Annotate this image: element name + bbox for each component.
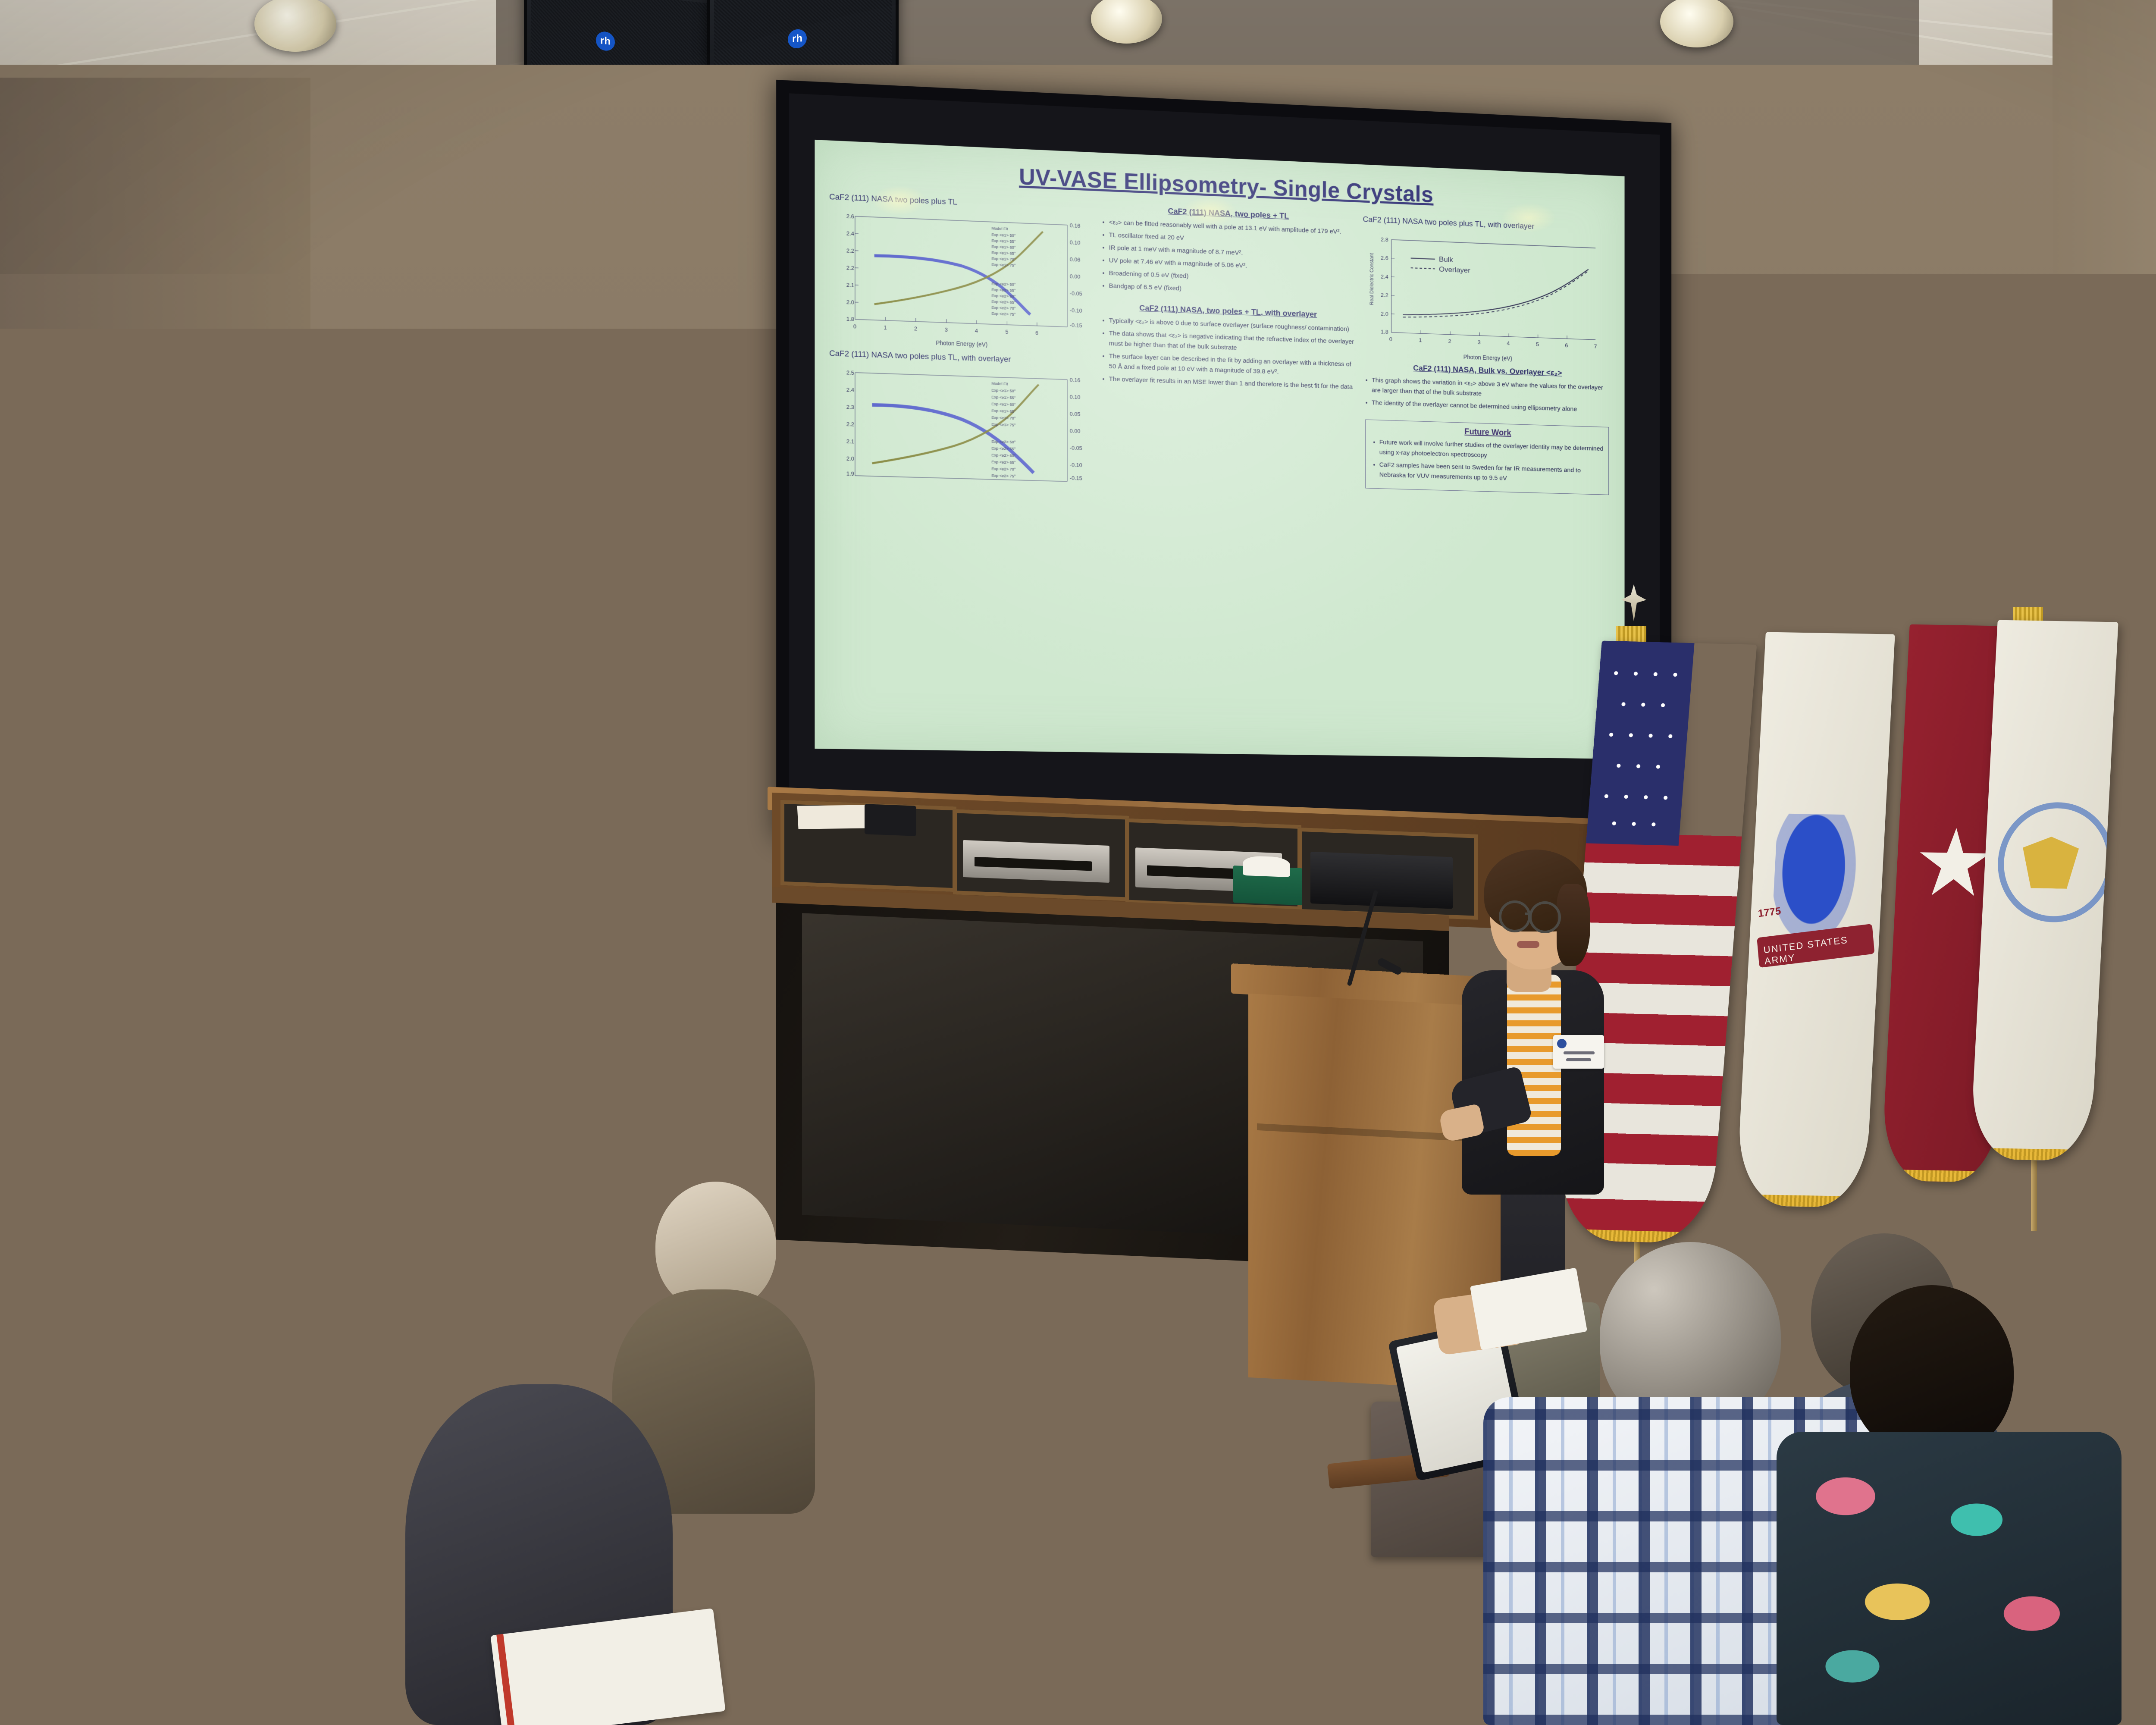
floor-cable-cover xyxy=(991,1328,1109,1358)
svg-text:Exp <e1> 50°: Exp <e1> 50° xyxy=(991,232,1016,238)
svg-text:Exp <e2> 50°: Exp <e2> 50° xyxy=(991,439,1016,445)
svg-text:2.2: 2.2 xyxy=(1381,292,1388,298)
flag-star xyxy=(1916,828,1993,900)
chart-right: 2.82.6 2.42.2 2.01.8 012 345 67 Real Die… xyxy=(1363,228,1611,358)
svg-text:Exp <e1> 75°: Exp <e1> 75° xyxy=(991,262,1016,268)
svg-text:2.0: 2.0 xyxy=(1381,310,1388,317)
wall-camera xyxy=(496,332,561,384)
svg-text:Exp <e2> 60°: Exp <e2> 60° xyxy=(991,293,1016,299)
svg-text:2.8: 2.8 xyxy=(1381,236,1388,243)
svg-text:Overlayer: Overlayer xyxy=(1439,265,1470,274)
svg-text:0.16: 0.16 xyxy=(1070,222,1081,229)
svg-text:2.3: 2.3 xyxy=(846,404,854,410)
slide-center-column: CaF2 (111) NASA, two poles + TL <ε₂> can… xyxy=(1100,201,1356,505)
av-operator-face xyxy=(524,850,563,901)
svg-text:0: 0 xyxy=(853,323,856,329)
svg-text:2.6: 2.6 xyxy=(1381,255,1388,261)
svg-text:1: 1 xyxy=(1419,337,1422,343)
easel-pad xyxy=(0,740,179,1042)
svg-text:0: 0 xyxy=(1389,336,1392,342)
projector-hotspot xyxy=(1181,196,1238,226)
wall-plate-insert xyxy=(1733,310,1763,348)
svg-text:Exp <e2> 65°: Exp <e2> 65° xyxy=(991,299,1016,305)
svg-text:2.0: 2.0 xyxy=(846,455,854,461)
svg-text:Exp <e1> 50°: Exp <e1> 50° xyxy=(991,388,1016,394)
flag-canton xyxy=(1586,641,1695,846)
svg-text:Exp <e1> 75°: Exp <e1> 75° xyxy=(991,422,1016,428)
sneaker-swoosh xyxy=(819,1604,907,1655)
flag-fringe xyxy=(1880,1170,1997,1183)
flag-fringe xyxy=(1736,1194,1865,1207)
svg-text:-0.10: -0.10 xyxy=(1070,307,1082,314)
svg-text:Real Dielectric Constant: Real Dielectric Constant xyxy=(1369,253,1374,305)
slide-right-column: CaF2 (111) NASA two poles plus TL, with … xyxy=(1363,212,1611,512)
svg-text:1: 1 xyxy=(884,324,887,331)
svg-text:Exp <e2> 60°: Exp <e2> 60° xyxy=(991,453,1016,458)
marker-blue[interactable] xyxy=(47,1040,78,1049)
svg-text:2.4: 2.4 xyxy=(846,230,854,237)
svg-text:3: 3 xyxy=(945,326,948,333)
presenter-mouth xyxy=(1517,941,1539,948)
svg-text:4: 4 xyxy=(1507,340,1510,346)
push-bar[interactable] xyxy=(2134,940,2156,950)
svg-text:Exp <e1> 70°: Exp <e1> 70° xyxy=(991,256,1016,262)
desk-speaker-left xyxy=(365,860,432,994)
svg-text:Exp <e2> 70°: Exp <e2> 70° xyxy=(991,466,1016,471)
svg-text:Exp <e2> 70°: Exp <e2> 70° xyxy=(991,305,1016,311)
svg-text:2.2: 2.2 xyxy=(846,264,854,271)
svg-text:2.4: 2.4 xyxy=(1381,273,1388,280)
flag-stars xyxy=(1592,646,1689,841)
av-player[interactable] xyxy=(963,840,1109,883)
svg-text:Exp <e2> 75°: Exp <e2> 75° xyxy=(991,311,1016,317)
center-bullets-top: <ε₂> can be fitted reasonably well with … xyxy=(1100,217,1356,300)
svg-text:Model Fit: Model Fit xyxy=(991,381,1008,386)
future-work-box: Future Work Future work will involve fur… xyxy=(1365,419,1609,495)
svg-text:4: 4 xyxy=(975,327,978,334)
audience-head xyxy=(457,1242,599,1402)
left-wall-panel xyxy=(0,78,310,1242)
svg-text:0.10: 0.10 xyxy=(1070,239,1081,246)
marker-red[interactable] xyxy=(9,1040,39,1049)
svg-text:Bulk: Bulk xyxy=(1439,255,1453,264)
svg-text:7: 7 xyxy=(1594,343,1597,349)
marker-yellow[interactable] xyxy=(86,1040,116,1049)
slide-content: UV-VASE Ellipsometry- Single Crystals Ca… xyxy=(815,140,1624,759)
chart-left-top: 2.62.4 2.22.2 2.12.0 1.8 012 345 6 0.160… xyxy=(829,206,1092,344)
chart-left-bottom: 2.52.4 2.32.2 2.12.0 1.9 0.160.10 0.050.… xyxy=(829,362,1092,498)
svg-text:-0.05: -0.05 xyxy=(1070,290,1082,297)
tissue xyxy=(1243,856,1290,877)
svg-text:0.00: 0.00 xyxy=(1070,273,1081,280)
center-bullets-bottom: Typically <ε₂> is above 0 due to surface… xyxy=(1100,315,1356,392)
bullet: CaF2 samples have been sent to Sweden fo… xyxy=(1379,460,1604,486)
future-work-bullets: Future work will involve further studies… xyxy=(1370,437,1604,486)
svg-text:0.05: 0.05 xyxy=(1070,411,1081,417)
svg-text:Exp <e1> 65°: Exp <e1> 65° xyxy=(991,408,1016,414)
svg-text:-0.10: -0.10 xyxy=(1070,461,1082,468)
svg-text:6: 6 xyxy=(1035,329,1038,336)
svg-text:0.00: 0.00 xyxy=(1070,427,1081,434)
svg-text:2: 2 xyxy=(1448,338,1451,344)
svg-text:2.0: 2.0 xyxy=(846,299,854,306)
papers-on-shelf xyxy=(797,805,872,829)
telephone[interactable] xyxy=(865,804,916,836)
svg-text:5: 5 xyxy=(1006,329,1009,335)
keyboard[interactable] xyxy=(451,968,593,1000)
audience-body-patterned xyxy=(1777,1432,2122,1725)
svg-text:1.8: 1.8 xyxy=(1381,329,1388,335)
svg-text:1.9: 1.9 xyxy=(846,470,854,477)
easel-pad-header: STICK EASEL PAD xyxy=(0,740,179,758)
flipchart-easel: STICK EASEL PAD xyxy=(0,729,220,1065)
auditorium-seat[interactable] xyxy=(806,1449,949,1596)
flag-fringe xyxy=(1969,1148,2090,1161)
svg-text:-0.05: -0.05 xyxy=(1070,444,1082,451)
presenter-hair-side xyxy=(1557,884,1590,966)
credenza-bay xyxy=(953,809,1129,901)
audience-body xyxy=(0,1501,224,1725)
svg-text:Exp <e2> 55°: Exp <e2> 55° xyxy=(991,288,1016,293)
svg-text:2: 2 xyxy=(914,325,917,332)
right-bullets: This graph shows the variation in <ε₂> a… xyxy=(1363,375,1611,415)
glasses-lens-right xyxy=(1529,901,1561,933)
svg-text:0.16: 0.16 xyxy=(1070,376,1081,383)
glasses-bridge xyxy=(1525,913,1532,915)
svg-text:2.1: 2.1 xyxy=(846,438,854,444)
svg-text:-0.15: -0.15 xyxy=(1070,474,1082,481)
notepad-spine xyxy=(496,1634,516,1725)
svg-text:3: 3 xyxy=(1477,339,1480,345)
slide-left-column: CaF2 (111) NASA two poles plus TL xyxy=(829,189,1092,498)
svg-text:Exp <e2> 65°: Exp <e2> 65° xyxy=(991,460,1016,465)
svg-text:6: 6 xyxy=(1565,342,1568,348)
svg-text:2.1: 2.1 xyxy=(846,282,854,289)
audience-head xyxy=(500,1138,599,1246)
svg-text:Model Fit: Model Fit xyxy=(991,226,1008,231)
easel-pad-label: STICK EASEL PAD xyxy=(0,744,87,754)
svg-text:2.4: 2.4 xyxy=(846,386,854,393)
svg-text:0.10: 0.10 xyxy=(1070,393,1081,400)
audience-head-long-hair xyxy=(0,1272,185,1540)
svg-text:-0.15: -0.15 xyxy=(1070,322,1082,329)
svg-text:Exp <e2> 55°: Exp <e2> 55° xyxy=(991,446,1016,451)
svg-text:2.5: 2.5 xyxy=(846,369,854,376)
name-badge xyxy=(1553,1035,1604,1069)
svg-text:Exp <e1> 55°: Exp <e1> 55° xyxy=(991,238,1016,244)
door-header xyxy=(2104,569,2156,589)
svg-text:Exp <e1> 60°: Exp <e1> 60° xyxy=(991,401,1016,407)
bullet: Future work will involve further studies… xyxy=(1379,437,1604,464)
svg-text:2.6: 2.6 xyxy=(846,213,854,220)
power-led xyxy=(643,979,651,985)
svg-text:2.2: 2.2 xyxy=(846,247,854,254)
svg-text:Exp <e1> 65°: Exp <e1> 65° xyxy=(991,251,1016,256)
svg-text:Exp <e2> 75°: Exp <e2> 75° xyxy=(991,473,1016,478)
glasses-lens-left xyxy=(1499,900,1531,932)
projector-hotspot xyxy=(871,185,927,216)
svg-text:2.2: 2.2 xyxy=(846,420,854,427)
svg-text:0.06: 0.06 xyxy=(1070,256,1081,263)
svg-text:Exp <e1> 70°: Exp <e1> 70° xyxy=(991,415,1016,421)
laptop[interactable] xyxy=(561,910,651,979)
svg-text:Exp <e1> 55°: Exp <e1> 55° xyxy=(991,395,1016,400)
svg-text:Exp <e1> 60°: Exp <e1> 60° xyxy=(991,245,1016,250)
svg-text:5: 5 xyxy=(1536,341,1539,347)
svg-text:Exp <e2> 50°: Exp <e2> 50° xyxy=(991,282,1016,287)
conference-room-photo: rh rh UV-VASE Ellipsometry- Single Cryst… xyxy=(0,0,2156,1725)
svg-text:1.8: 1.8 xyxy=(846,316,854,323)
projector-hotspot xyxy=(1501,203,1557,233)
badge-logo xyxy=(1557,1039,1567,1048)
marker-tray xyxy=(160,884,201,894)
